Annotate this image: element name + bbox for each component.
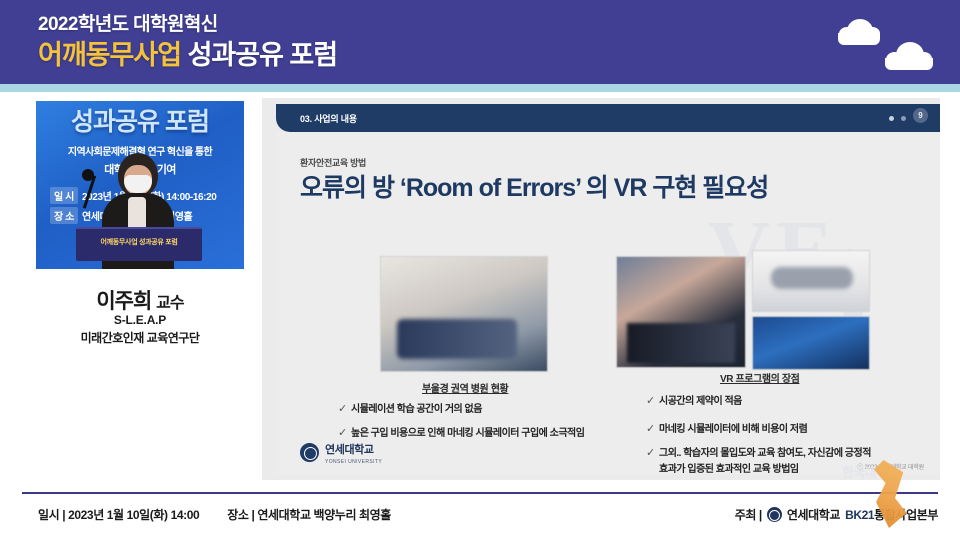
slide-section-bar: 03. 사업의 내용 9 [276, 104, 940, 132]
speaker-name: 이주희 교수 [22, 285, 258, 315]
slide-bullet-right-2: ✓마네킹 시뮬레이터에 비해 비용이 저렴 [646, 420, 807, 435]
speaker-role-text: 교수 [156, 295, 183, 312]
slide-page-number: 9 [913, 108, 928, 123]
footer-host-label: 주최 | [735, 506, 762, 523]
header-title-accent: 어깨동무사업 [38, 40, 181, 70]
check-icon: ✓ [646, 422, 659, 435]
slide-caption-right: VR 프로그램의 장점 [720, 370, 799, 385]
slide-image-hospital-room [380, 256, 548, 372]
podium: 어깨동무사업 성과공유 포럼 [76, 227, 202, 261]
slide-bullet-left-2-text: 높은 구입 비용으로 인해 마네킹 시뮬레이터 구입에 소극적임 [351, 428, 584, 439]
footer-left-info: 일시 | 2023년 1월 10일(화) 14:00 장소 | 연세대학교 백양… [38, 506, 391, 523]
check-icon: ✓ [338, 426, 351, 439]
photo-date-label: 일 시 [50, 187, 78, 204]
slide-bullet-right-3-cont: 효과가 입증된 효과적인 교육 방법임 [659, 460, 799, 475]
presentation-slide[interactable]: 03. 사업의 내용 9 VE 환자안전교육 방법 오류의 방 ‘Room of… [262, 98, 940, 480]
slide-bullet-left-1-text: 시뮬레이션 학습 공간이 거의 없음 [351, 404, 482, 415]
slide-bullet-right-3: ✓그외.. 학습자의 몰입도와 교육 참여도, 자신감에 긍정적 [646, 444, 871, 459]
footer-place: 장소 | 연세대학교 백양누리 최영홀 [227, 506, 391, 523]
slide-bullet-right-3-text: 그외.. 학습자의 몰입도와 교육 참여도, 자신감에 긍정적 [659, 448, 871, 459]
speaker-photo: 성과공유 포럼 지역사회문제해결형 연구 혁신을 통한 대학의 사회 기여 일 … [36, 101, 244, 269]
slide-bullet-right-1-text: 시공간의 제약이 적음 [659, 396, 742, 407]
speaker-name-text: 이주희 [96, 290, 151, 313]
slide-university-logo: 연세대학교 YONSEI UNIVERSITY [300, 440, 382, 465]
speaker-org-line-2: 미래간호인재 교육연구단 [22, 329, 258, 346]
slide-bullet-right-2-text: 마네킹 시뮬레이터에 비해 비용이 저렴 [659, 424, 807, 435]
footer-host-org: 연세대학교 [787, 506, 840, 523]
footer-host-unit-bk: BK21 [845, 508, 874, 522]
slide-body: VE 환자안전교육 방법 오류의 방 ‘Room of Errors’ 의 VR… [276, 132, 940, 474]
header-accent-strip [0, 84, 960, 92]
slide-logo-text: 연세대학교 YONSEI UNIVERSITY [325, 440, 382, 465]
header-title-rest: 성과공유 포럼 [188, 40, 338, 70]
page-footer: 일시 | 2023년 1월 10일(화) 14:00 장소 | 연세대학교 백양… [0, 494, 960, 542]
footer-host-info: 주최 | 연세대학교 BK21통합사업본부 [735, 506, 938, 523]
header-subtitle: 2022학년도 대학원혁신 [38, 12, 337, 38]
slide-bullet-right-1: ✓시공간의 제약이 적음 [646, 392, 742, 407]
header-title-block: 2022학년도 대학원혁신 어깨동무사업 성과공유 포럼 [38, 12, 337, 72]
slide-image-vr-user [752, 316, 870, 370]
footer-datetime: 일시 | 2023년 1월 10일(화) 14:00 [38, 506, 199, 523]
slide-logo-en: YONSEI UNIVERSITY [325, 459, 382, 465]
page-header: 2022학년도 대학원혁신 어깨동무사업 성과공유 포럼 [0, 0, 960, 84]
microphone-head-icon [82, 169, 94, 181]
slide-title: 오류의 방 ‘Room of Errors’ 의 VR 구현 필요성 [300, 168, 768, 204]
slide-image-vr-devices [752, 250, 870, 312]
slide-bullet-left-2: ✓높은 구입 비용으로 인해 마네킹 시뮬레이터 구입에 소극적임 [338, 424, 584, 439]
check-icon: ✓ [646, 394, 659, 407]
page-dot-2 [901, 116, 906, 121]
speaker-panel: 성과공유 포럼 지역사회문제해결형 연구 혁신을 통한 대학의 사회 기여 일 … [22, 101, 258, 347]
yonsei-seal-icon [767, 507, 782, 522]
slide-logo-kr: 연세대학교 [325, 444, 374, 456]
yonsei-seal-icon [300, 443, 319, 462]
podium-text: 어깨동무사업 성과공유 포럼 [76, 237, 202, 247]
slide-caption-left: 부울경 권역 병원 현황 [422, 380, 508, 395]
page-dot-1 [889, 116, 894, 121]
photo-banner-title: 성과공유 포럼 [44, 107, 236, 137]
slide-section-label: 03. 사업의 내용 [300, 112, 357, 125]
photo-place-label: 장 소 [50, 207, 78, 224]
check-icon: ✓ [646, 446, 659, 459]
cloud-icon [885, 58, 933, 70]
slide-image-vr-scene [616, 256, 746, 368]
slide-page-indicator: 9 [889, 113, 928, 123]
cloud-icon [838, 33, 880, 45]
speaker-org-line-1: S-L.E.A.P [22, 313, 258, 327]
check-icon: ✓ [338, 402, 351, 415]
header-title: 어깨동무사업 성과공유 포럼 [38, 38, 337, 72]
slide-bullet-left-1: ✓시뮬레이션 학습 공간이 거의 없음 [338, 400, 482, 415]
